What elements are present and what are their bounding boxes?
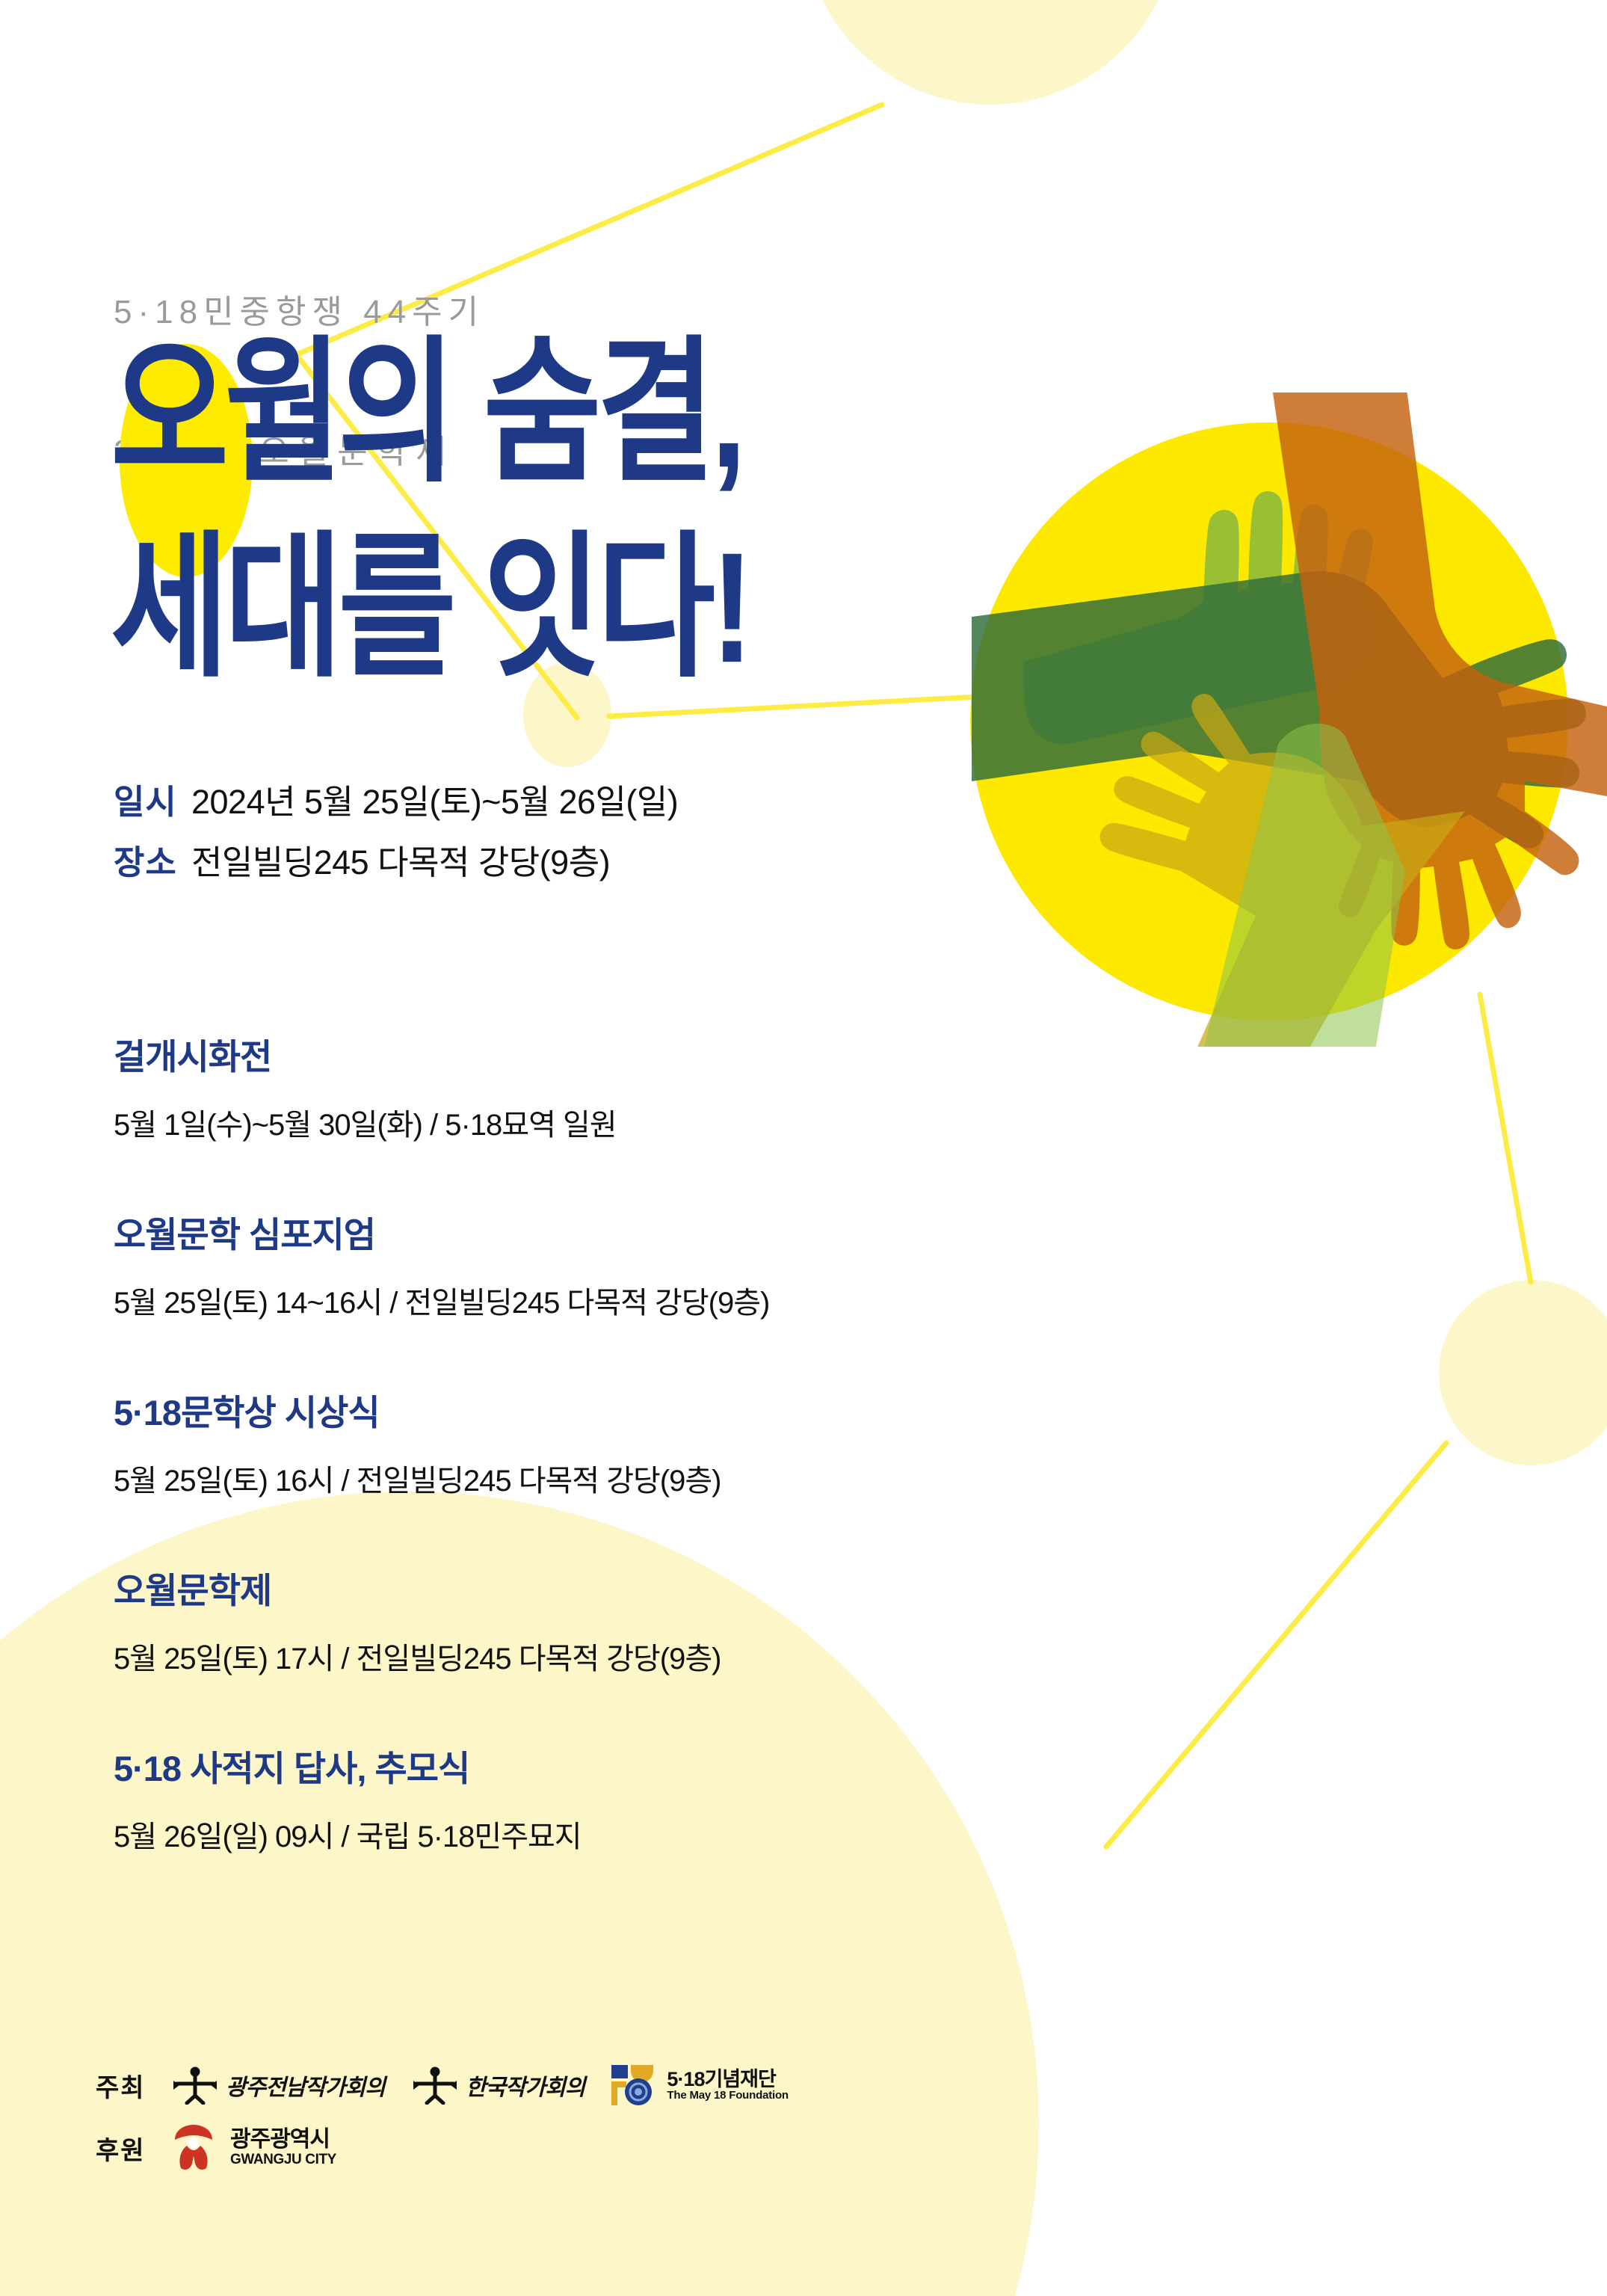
four-overlapping-hands-icon [957,393,1607,1047]
poster-footer: 주최 광주전남작가회의 한국작 [96,2063,1067,2189]
program-item-title: 5·18문학상 시상식 [114,1384,1160,1435]
logo-label-ko: 광주광역시 [230,2128,336,2152]
hands-illustration [957,393,1607,1047]
writers-association-figure-icon [170,2066,220,2105]
program-item-title: 걸개시화전 [114,1028,1160,1080]
program-item-detail: 5월 25일(토) 14~16시 / 전일빌딩245 다목적 강당(9층) [114,1278,1160,1322]
logo-gwangju-jeonnam-writers: 광주전남작가회의 [170,2066,385,2105]
gwangju-city-icon [170,2123,217,2173]
program-item-detail: 5월 25일(토) 16시 / 전일빌딩245 다목적 강당(9층) [114,1456,1160,1500]
place-value: 전일빌딩245 다목적 강당(9층) [191,838,610,888]
program-item: 걸개시화전 5월 1일(수)~5월 30일(화) / 5·18묘역 일원 [114,1028,1160,1144]
title-line-1: 오월의 숨결, [111,333,993,493]
meta-row-place: 장소 전일빌딩245 다목적 강당(9층) [114,838,678,888]
footer-sponsors-row: 후원 광주광역시 GWANGJU CITY [96,2123,1067,2173]
logo-label-en: GWANGJU CITY [230,2152,336,2168]
program-item-title: 오월문학제 [114,1562,1160,1613]
event-meta: 일시 2024년 5월 25일(토)~5월 26일(일) 장소 전일빌딩245 … [114,778,678,898]
program-item-detail: 5월 25일(토) 17시 / 전일빌딩245 다목적 강당(9층) [114,1634,1160,1678]
host-label: 주최 [96,2067,170,2104]
program-item-title: 오월문학 심포지엄 [114,1206,1160,1258]
program-item-title: 5·18 사적지 답사, 추모식 [114,1740,1160,1791]
program-list: 걸개시화전 5월 1일(수)~5월 30일(화) / 5·18묘역 일원 오월문… [114,1028,1160,1856]
pale-circle-right [1439,1280,1607,1465]
place-label: 장소 [114,838,191,888]
writers-association-figure-icon [410,2066,460,2105]
program-item-detail: 5월 26일(일) 09시 / 국립 5·18민주묘지 [114,1812,1160,1856]
logo-text-block: 광주광역시 GWANGJU CITY [230,2128,336,2167]
title-line-2: 세대를 잇다! [111,529,993,689]
date-label: 일시 [114,778,191,828]
poster-canvas: 5·18민중항쟁 44주기 2024 오월문학제 오월의 숨결, 세대를 잇다!… [0,0,1607,2296]
program-item-detail: 5월 1일(수)~5월 30일(화) / 5·18묘역 일원 [114,1101,1160,1144]
program-item: 오월문학 심포지엄 5월 25일(토) 14~16시 / 전일빌딩245 다목적… [114,1206,1160,1322]
may18-foundation-icon [610,2063,655,2107]
page-title: 오월의 숨결, 세대를 잇다! [111,333,993,660]
logo-may18-foundation: 5·18기념재단 The May 18 Foundation [610,2063,788,2107]
pale-circle-top [803,0,1177,105]
program-item: 5·18 사적지 답사, 추모식 5월 26일(일) 09시 / 국립 5·18… [114,1740,1160,1856]
sponsor-label: 후원 [96,2130,170,2167]
logo-label-ko: 5·18기념재단 [667,2069,788,2090]
program-item: 5·18문학상 시상식 5월 25일(토) 16시 / 전일빌딩245 다목적 … [114,1384,1160,1500]
logo-text-block: 5·18기념재단 The May 18 Foundation [667,2069,788,2102]
logo-label: 한국작가회의 [466,2069,585,2102]
logo-label-en: The May 18 Foundation [667,2090,788,2102]
logo-gwangju-city: 광주광역시 GWANGJU CITY [170,2123,336,2173]
logo-korean-writers: 한국작가회의 [410,2066,585,2105]
logo-label: 광주전남작가회의 [226,2069,385,2102]
meta-row-date: 일시 2024년 5월 25일(토)~5월 26일(일) [114,778,678,828]
program-item: 오월문학제 5월 25일(토) 17시 / 전일빌딩245 다목적 강당(9층) [114,1562,1160,1678]
date-value: 2024년 5월 25일(토)~5월 26일(일) [191,778,678,828]
footer-hosts-row: 주최 광주전남작가회의 한국작 [96,2063,1067,2107]
